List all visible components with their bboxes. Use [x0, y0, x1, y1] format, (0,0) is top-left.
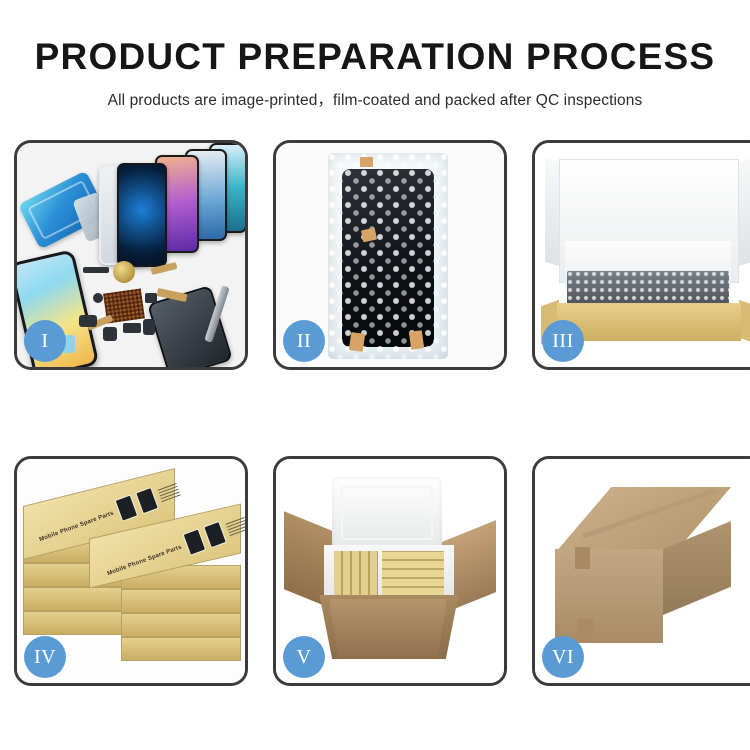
process-grid: I II — [14, 140, 746, 686]
step-badge-3: III — [542, 320, 584, 362]
tape-piece-1 — [360, 157, 373, 167]
step-badge-1: I — [24, 320, 66, 362]
carton-front — [324, 599, 452, 657]
box-side-a4 — [23, 587, 129, 611]
tape-piece-3 — [349, 332, 365, 352]
phone-screen-blue — [117, 163, 167, 267]
step-panel-foam-lined-carton[interactable]: V — [273, 456, 507, 686]
tape-piece-4 — [409, 330, 424, 350]
step-panel-stacked-retail-boxes[interactable]: Mobile Phone Spare Parts Mobile Phone Sp… — [14, 456, 248, 686]
wrapped-contents — [567, 271, 729, 307]
step-badge-6: VI — [542, 636, 584, 678]
step-panel-parts-and-screens[interactable]: I — [14, 140, 248, 370]
small-part-1 — [83, 267, 109, 273]
step-panel-sealed-shipping-carton[interactable]: VI — [532, 456, 750, 686]
box-side-b4 — [121, 613, 241, 637]
box-base — [557, 303, 741, 341]
box-side-b5 — [121, 637, 241, 661]
box-label-lines-b — [225, 517, 248, 536]
packed-boxes-right — [382, 551, 444, 595]
step-panel-open-inner-box[interactable]: III — [532, 140, 750, 370]
foam-lid — [332, 477, 442, 549]
box-label-lines-a — [157, 483, 180, 502]
small-part-7 — [145, 293, 157, 303]
process-row-bottom: Mobile Phone Spare Parts Mobile Phone Sp… — [14, 456, 746, 686]
box-side-a5 — [23, 611, 129, 635]
small-part-2 — [79, 315, 97, 327]
small-part-3 — [103, 327, 117, 341]
bubble-wrap-texture — [328, 153, 448, 359]
carton-front-face — [555, 549, 663, 643]
small-part-4 — [123, 323, 141, 333]
step-badge-5: V — [283, 636, 325, 678]
carton-tape-upper — [575, 547, 590, 569]
small-part-8 — [93, 293, 103, 303]
step-badge-4: IV — [24, 636, 66, 678]
speaker-component — [113, 261, 135, 283]
small-part-5 — [143, 319, 155, 335]
packed-boxes-left — [334, 551, 378, 595]
step-badge-2: II — [283, 320, 325, 362]
carton-tape-lower — [577, 619, 593, 641]
box-side-b3 — [121, 589, 241, 613]
page-subtitle: All products are image-printed，film-coat… — [0, 88, 750, 110]
page-title: PRODUCT PREPARATION PROCESS — [0, 38, 750, 77]
header: PRODUCT PREPARATION PROCESS All products… — [0, 38, 750, 110]
step-panel-bubble-wrapped-screen[interactable]: II — [273, 140, 507, 370]
process-row-top: I II — [14, 140, 746, 370]
